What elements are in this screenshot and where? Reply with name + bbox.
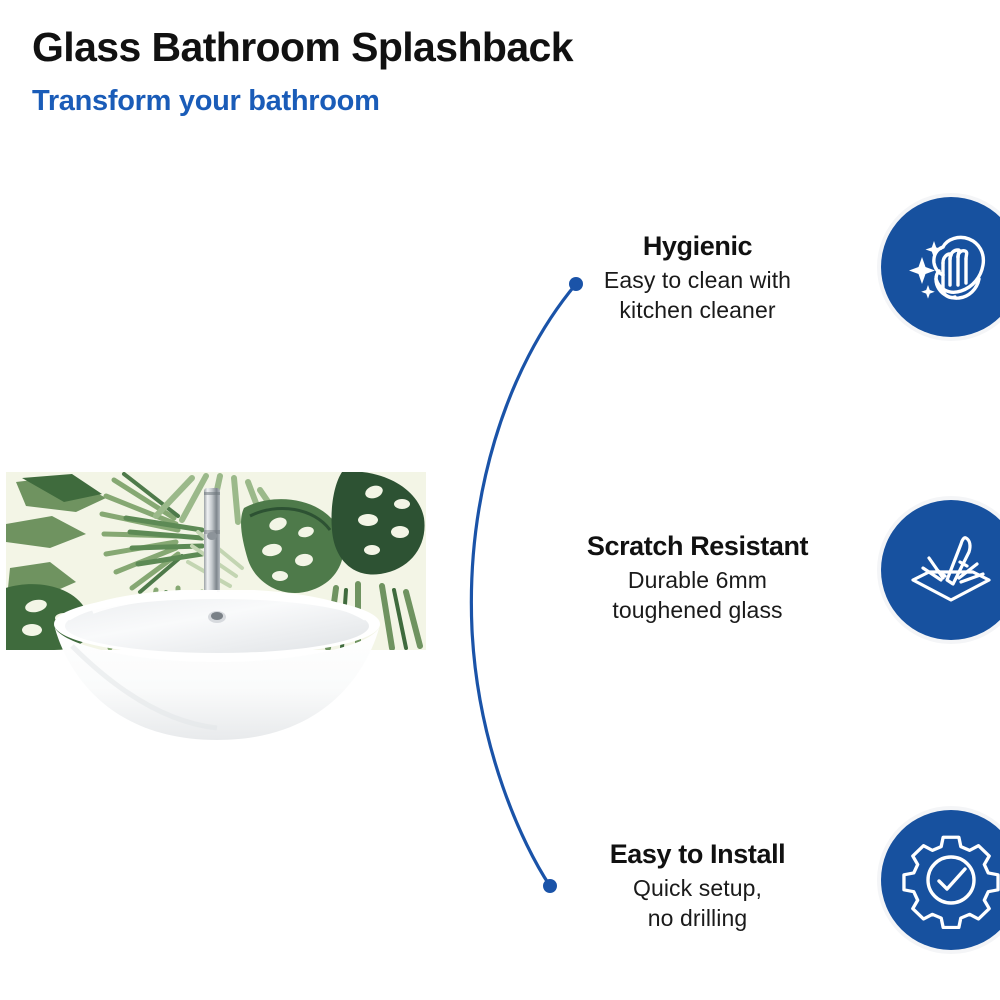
feature-title: Easy to Install [520,838,875,871]
feature-description-line: Easy to clean with [520,265,875,295]
product-photo [0,430,440,770]
infographic-page: Glass Bathroom Splashback Transform your… [0,0,1000,1000]
feature-icon-badge [881,810,1000,950]
feature-description-line: Durable 6mm [520,565,875,595]
feature-description: Quick setup, no drilling [520,873,875,933]
feature-icon-badge [881,500,1000,640]
feature-description-line: toughened glass [520,595,875,625]
page-title: Glass Bathroom Splashback [32,23,573,71]
feature-description-line: Quick setup, [520,873,875,903]
ceramic-basin [52,590,382,750]
cleaning-hand-sparkle-icon [903,219,999,315]
feature-text-block: Easy to Install Quick setup, no drilling [520,838,875,933]
feature-text-block: Scratch Resistant Durable 6mm toughened … [520,530,875,625]
page-subtitle: Transform your bathroom [32,83,380,119]
feature-text-block: Hygienic Easy to clean with kitchen clea… [520,230,875,325]
feature-description-line: no drilling [520,903,875,933]
gear-checkmark-icon [902,831,1000,929]
feature-description-line: kitchen cleaner [520,295,875,325]
feature-title: Hygienic [520,230,875,263]
feature-icon-badge [881,197,1000,337]
knife-scratch-surface-icon [903,522,999,618]
feature-description: Easy to clean with kitchen cleaner [520,265,875,325]
feature-description: Durable 6mm toughened glass [520,565,875,625]
feature-title: Scratch Resistant [520,530,875,563]
